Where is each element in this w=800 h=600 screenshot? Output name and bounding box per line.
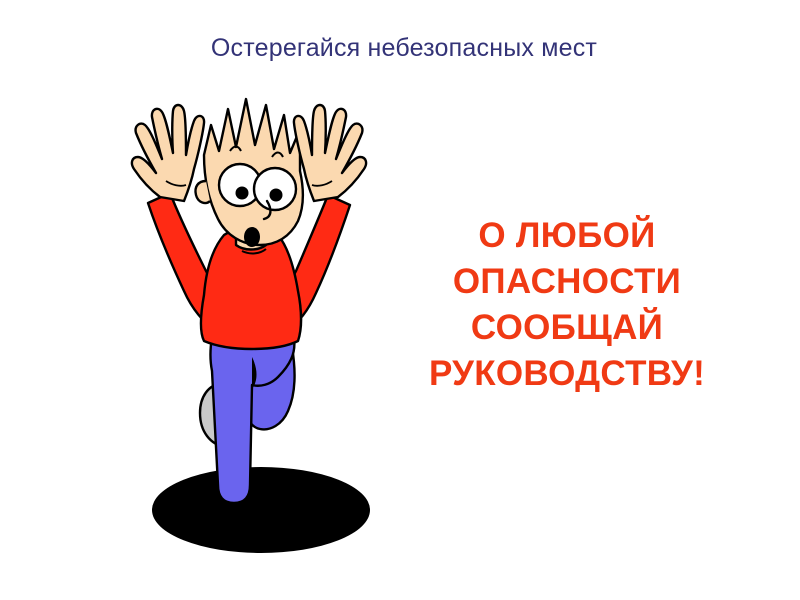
page-title: Остерегайся небезопасных мест	[0, 34, 800, 63]
open-hand-left-icon	[132, 105, 204, 201]
message-line-2: ОПАСНОСТИ	[388, 259, 746, 305]
black-hole-icon	[152, 467, 370, 553]
slide-canvas: Остерегайся небезопасных мест	[0, 0, 800, 600]
warning-message: О ЛЮБОЙ ОПАСНОСТИ СООБЩАЙ РУКОВОДСТВУ!	[388, 213, 746, 397]
message-line-4: РУКОВОДСТВУ!	[388, 351, 746, 397]
open-hand-right-icon	[294, 105, 366, 201]
message-line-1: О ЛЮБОЙ	[388, 213, 746, 259]
message-line-3: СООБЩАЙ	[388, 305, 746, 351]
illustration-startled-man-over-hole	[100, 85, 400, 565]
open-mouth-icon	[244, 227, 260, 247]
